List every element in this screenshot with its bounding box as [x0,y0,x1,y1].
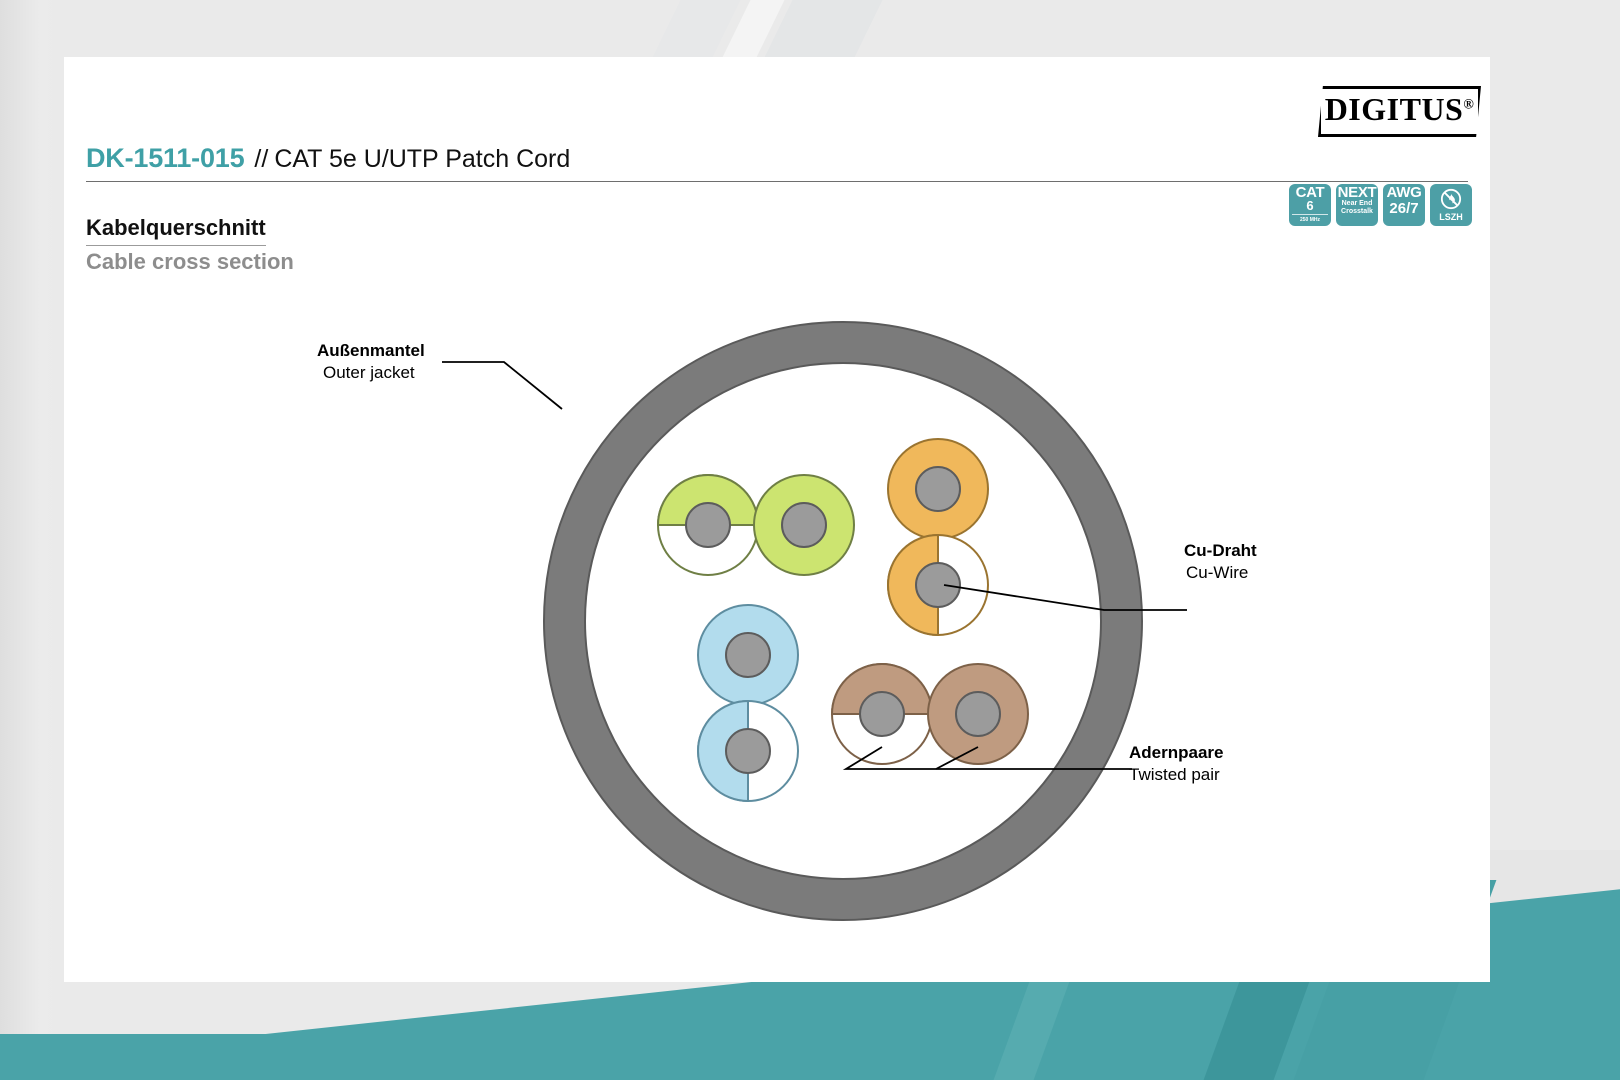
callout-cu-wire: Cu-Draht Cu-Wire [1184,540,1257,584]
brown-striped-wire [832,664,932,764]
cable-cross-section-diagram [64,57,1490,982]
brown-solid-wire [928,664,1028,764]
slide-page: DIGITUS® DK-1511-015//CAT 5e U/UTP Patch… [0,0,1620,1080]
callout-twisted-pair-en: Twisted pair [1129,764,1223,786]
callout-twisted-pair: Adernpaare Twisted pair [1129,742,1223,786]
orange-striped-wire [888,535,988,635]
green-striped-wire [658,475,758,575]
callout-outer-jacket-en: Outer jacket [317,362,425,384]
leader-outer-jacket [442,362,562,409]
callout-cu-wire-en: Cu-Wire [1184,562,1257,584]
callout-outer-jacket-de: Außenmantel [317,340,425,362]
callout-outer-jacket: Außenmantel Outer jacket [317,340,425,384]
callout-twisted-pair-de: Adernpaare [1129,742,1223,764]
blue-striped-wire [698,701,798,801]
orange-solid-wire [888,439,988,539]
green-solid-wire [754,475,854,575]
callout-cu-wire-de: Cu-Draht [1184,540,1257,562]
blue-solid-wire [698,605,798,705]
content-card: DIGITUS® DK-1511-015//CAT 5e U/UTP Patch… [64,57,1490,982]
jacket-inner-void [585,363,1101,879]
